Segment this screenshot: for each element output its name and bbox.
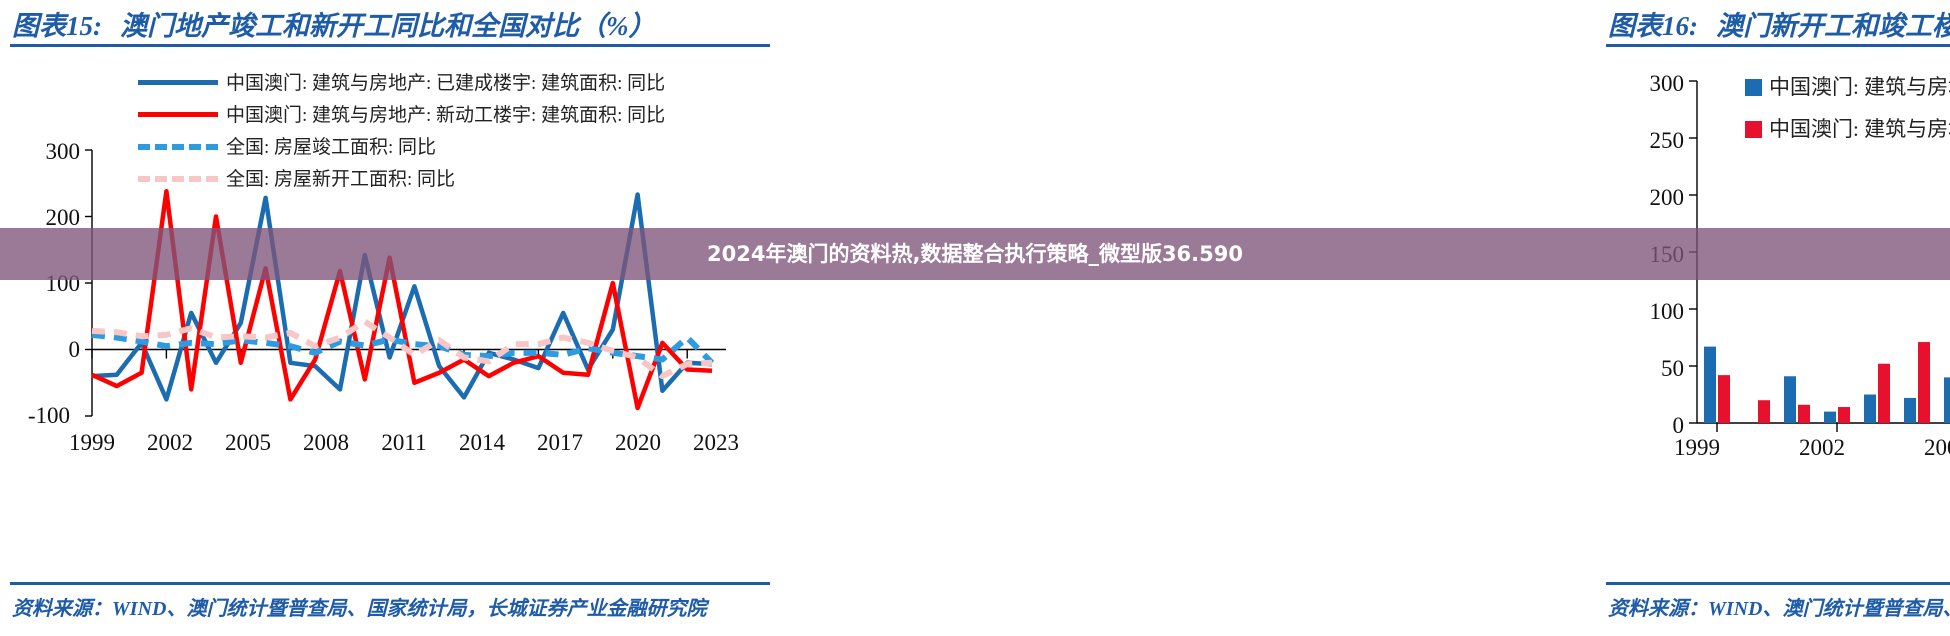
figure-15-source: 资料来源：WIND、澳门统计暨普查局、国家统计局，长城证券产业金融研究院 — [12, 592, 706, 621]
figure-15-top-rule — [10, 44, 770, 47]
legend-label: 中国澳门: 建筑与房地产: 已建成楼宇: 建筑面积: 同比 — [226, 73, 665, 94]
figure-15-bottom-rule — [10, 582, 770, 585]
figure-15-title: 图表15:澳门地产竣工和新开工同比和全国对比（%） — [12, 4, 656, 43]
y-tick-label: 200 — [1624, 185, 1684, 211]
y-tick-label: 250 — [1624, 128, 1684, 154]
x-tick-label: 2002 — [135, 430, 205, 456]
legend-item-macau-completed-area: 中国澳门: 建筑与房地产: 已建成楼宇: 建筑面积 — [1745, 71, 1950, 101]
figure-16-panel: 图表16:澳门新开工和竣工楼宇面积（万平方米） 中国澳门: 建筑与房地产: 已建… — [800, 0, 1950, 636]
legend-label: 全国: 房屋新开工面积: 同比 — [226, 169, 455, 190]
x-tick-label: 2005 — [1912, 435, 1950, 461]
figure-15-chart: 中国澳门: 建筑与房地产: 已建成楼宇: 建筑面积: 同比 中国澳门: 建筑与房… — [0, 50, 790, 570]
figure-16-top-rule — [1606, 44, 1950, 47]
legend-item-macau-completed: 中国澳门: 建筑与房地产: 已建成楼宇: 建筑面积: 同比 — [138, 68, 665, 95]
y-tick-label: 0 — [20, 337, 80, 363]
legend-item-macau-started: 中国澳门: 建筑与房地产: 新动工楼宇: 建筑面积: 同比 — [138, 100, 665, 127]
x-tick-label: 2023 — [681, 430, 751, 456]
y-tick-label: 150 — [1624, 242, 1684, 268]
legend-label: 中国澳门: 建筑与房地产: 新动工楼宇: 建筑面积: 同比 — [226, 105, 665, 126]
legend-item-national-completed: 全国: 房屋竣工面积: 同比 — [138, 132, 436, 159]
x-tick-label: 1999 — [57, 430, 127, 456]
x-tick-label: 2011 — [369, 430, 439, 456]
figure-15-label: 图表15: — [12, 11, 102, 41]
x-tick-label: 2008 — [291, 430, 361, 456]
legend-swatch-red-icon — [1745, 121, 1762, 138]
x-tick-label: 2014 — [447, 430, 517, 456]
y-tick-label: 200 — [20, 205, 80, 231]
y-tick-label: 50 — [1624, 356, 1684, 382]
x-tick-label: 2005 — [213, 430, 283, 456]
figure-16-bottom-rule — [1606, 582, 1950, 585]
y-tick-label: 100 — [20, 271, 80, 297]
figure-16-title: 图表16:澳门新开工和竣工楼宇面积（万平方米） — [1608, 4, 1950, 43]
figure-16-source: 资料来源：WIND、澳门统计暨普查局、长城证券产业金融研究院 — [1608, 592, 1950, 621]
legend-swatch-blue-icon — [1745, 79, 1762, 96]
figure-16-label: 图表16: — [1608, 11, 1698, 41]
y-tick-label: 100 — [1624, 299, 1684, 325]
y-tick-label: -100 — [10, 403, 70, 429]
legend-swatch-solid-red-icon — [138, 112, 218, 117]
legend-label: 中国澳门: 建筑与房地产: 新动工楼宇: 建筑面积 — [1769, 117, 1950, 141]
legend-swatch-solid-blue-icon — [138, 80, 218, 85]
legend-swatch-dash-pink-icon — [138, 176, 218, 182]
x-tick-label: 2002 — [1787, 435, 1857, 461]
legend-item-macau-started-area: 中国澳门: 建筑与房地产: 新动工楼宇: 建筑面积 — [1745, 113, 1950, 143]
y-tick-label: 300 — [1624, 71, 1684, 97]
x-tick-label: 2020 — [603, 430, 673, 456]
y-tick-label: 300 — [20, 139, 80, 165]
figure-16-chart: 中国澳门: 建筑与房地产: 已建成楼宇: 建筑面积 中国澳门: 建筑与房地产: … — [1600, 50, 1950, 570]
x-tick-label: 1999 — [1662, 435, 1732, 461]
legend-label: 中国澳门: 建筑与房地产: 已建成楼宇: 建筑面积 — [1769, 75, 1950, 99]
legend-swatch-dash-blue-icon — [138, 144, 218, 150]
figure-16-title-text: 澳门新开工和竣工楼宇面积（万平方米） — [1716, 11, 1950, 41]
page-root: 图表15:澳门地产竣工和新开工同比和全国对比（%） 中国澳门: 建筑与房地产: … — [0, 0, 1950, 636]
legend-label: 全国: 房屋竣工面积: 同比 — [226, 137, 436, 158]
x-tick-label: 2017 — [525, 430, 595, 456]
figure-15-title-text: 澳门地产竣工和新开工同比和全国对比（%） — [120, 11, 656, 41]
legend-item-national-started: 全国: 房屋新开工面积: 同比 — [138, 164, 455, 191]
